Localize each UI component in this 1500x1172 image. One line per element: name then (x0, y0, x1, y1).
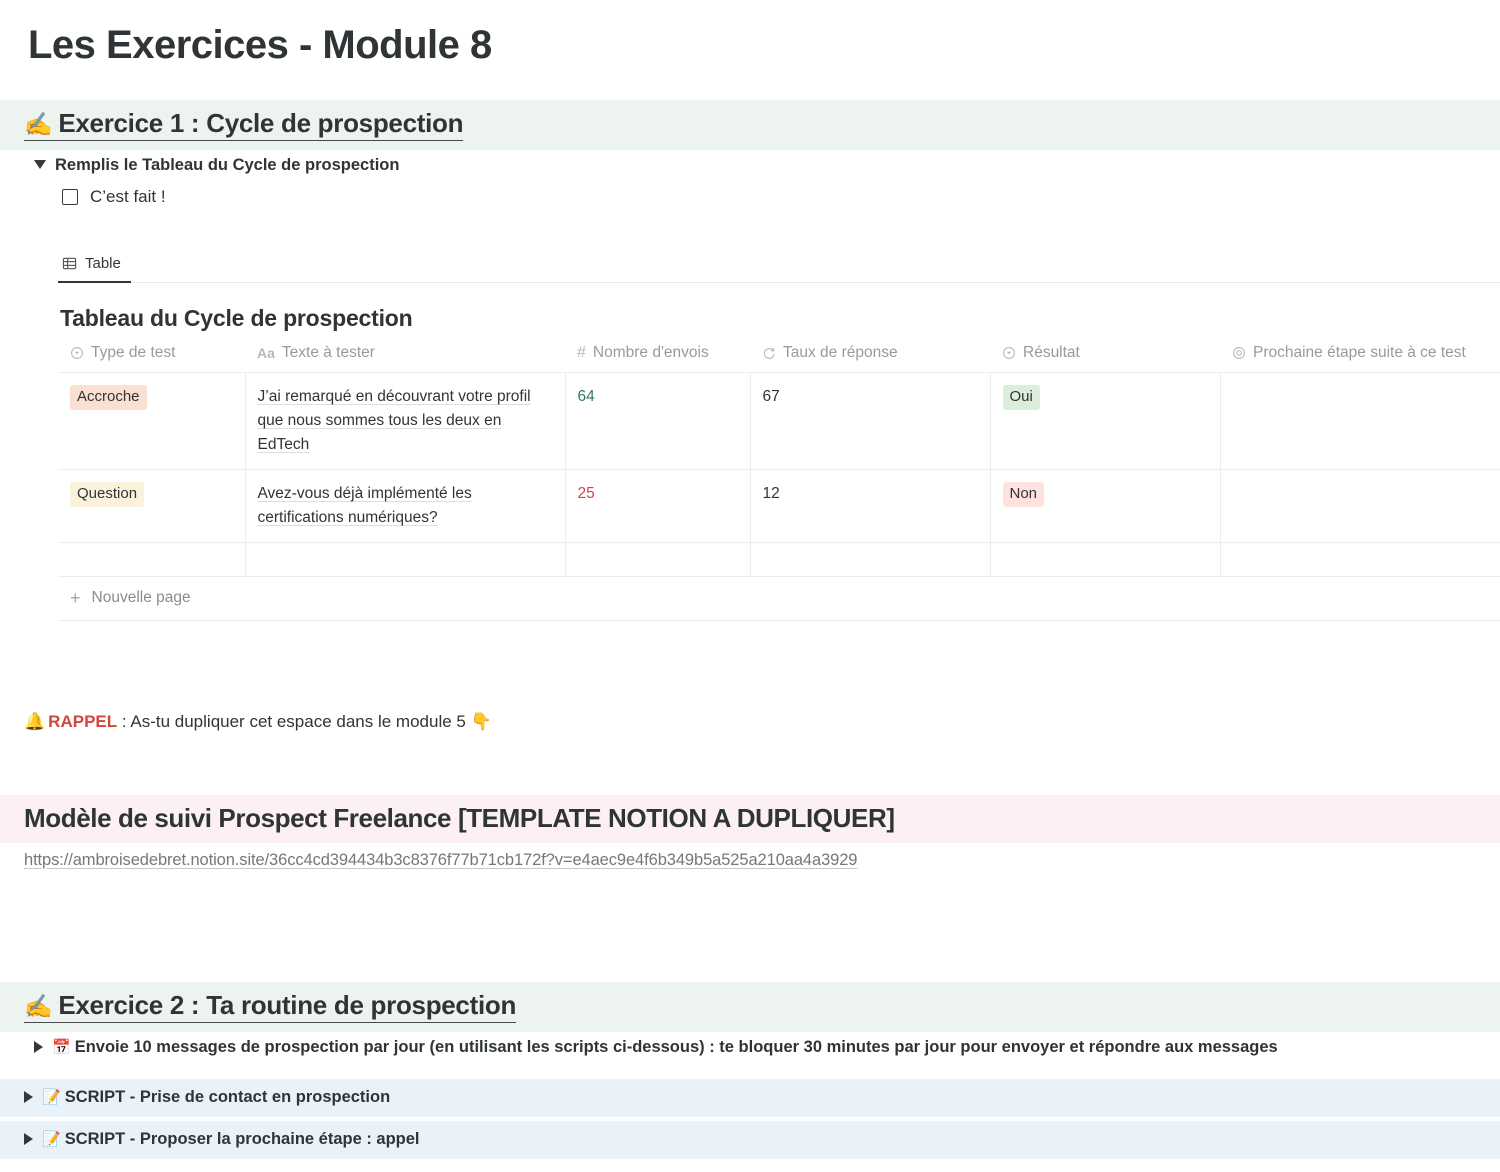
database-table: Type de test Aa Texte à tester # Nombre … (58, 338, 1500, 577)
column-resultat-label: Résultat (1023, 344, 1080, 362)
formula-icon (762, 346, 776, 360)
notion-page: Les Exercices - Module 8 ✍️Exercice 1 : … (0, 0, 1500, 1172)
tab-table-label: Table (85, 255, 121, 272)
column-taux-de-reponse[interactable]: Taux de réponse (750, 338, 990, 373)
cell-resultat[interactable]: Non (990, 470, 1220, 543)
script-1-label: SCRIPT - Prise de contact en prospection (65, 1088, 390, 1106)
column-type-de-test-label: Type de test (91, 344, 175, 362)
calendar-icon: 📅 (52, 1039, 71, 1056)
todo-cest-fait[interactable]: C’est fait ! (0, 181, 1500, 207)
column-nombre-envois-label: Nombre d'envois (593, 344, 709, 362)
script-block-2: 📝SCRIPT - Proposer la prochaine étape : … (0, 1121, 1500, 1159)
text-aa-icon: Aa (257, 345, 275, 361)
status-badge: Oui (1003, 385, 1040, 410)
database-view-tabs: Table (58, 251, 1500, 283)
rappel-text: 🔔RAPPEL : As-tu dupliquer cet espace dan… (0, 709, 1500, 735)
writing-hand-icon: ✍️ (24, 111, 52, 137)
table-row[interactable] (58, 543, 1500, 577)
new-page-label: Nouvelle page (92, 589, 191, 607)
chevron-down-icon[interactable] (34, 160, 46, 169)
plus-icon: + (70, 589, 81, 607)
cell-prochaine[interactable] (1220, 373, 1500, 470)
cell-type[interactable] (58, 543, 245, 577)
cell-envois[interactable]: 25 (565, 470, 750, 543)
cell-texte[interactable]: J’ai remarqué en découvrant votre profil… (245, 373, 565, 470)
page-title: Les Exercices - Module 8 (0, 0, 1500, 68)
cell-taux[interactable]: 12 (750, 470, 990, 543)
modele-link-row: https://ambroisedebret.notion.site/36cc4… (0, 843, 1500, 870)
toggle-script-prochaine-etape[interactable]: 📝SCRIPT - Proposer la prochaine étape : … (24, 1128, 1500, 1151)
status-badge: Accroche (70, 385, 147, 410)
column-prochaine-etape[interactable]: Prochaine étape suite à ce test (1220, 338, 1500, 373)
table-row[interactable]: Question Avez-vous déjà implémenté les c… (58, 470, 1500, 543)
column-taux-de-reponse-label: Taux de réponse (783, 344, 898, 362)
toggle-routine-label: Envoie 10 messages de prospection par jo… (75, 1038, 1278, 1056)
script-2-label: SCRIPT - Proposer la prochaine étape : a… (65, 1130, 420, 1148)
chevron-right-icon[interactable] (24, 1091, 33, 1103)
rappel-rest: : As-tu dupliquer cet espace dans le mod… (117, 712, 470, 731)
modele-heading: Modèle de suivi Prospect Freelance [TEMP… (24, 803, 895, 833)
exercice-1-heading[interactable]: ✍️Exercice 1 : Cycle de prospection (24, 108, 463, 141)
cell-envois[interactable]: 64 (565, 373, 750, 470)
column-resultat[interactable]: Résultat (990, 338, 1220, 373)
number-hash-icon: # (577, 344, 586, 362)
column-nombre-envois[interactable]: # Nombre d'envois (565, 338, 750, 373)
checkbox-cest-fait[interactable] (62, 189, 78, 205)
table-row[interactable]: Accroche J’ai remarqué en découvrant vot… (58, 373, 1500, 470)
select-icon (70, 346, 84, 360)
cell-envois[interactable] (565, 543, 750, 577)
cell-taux[interactable] (750, 543, 990, 577)
chevron-right-icon[interactable] (24, 1133, 33, 1145)
exercice-2-heading[interactable]: ✍️Exercice 2 : Ta routine de prospection (24, 990, 516, 1023)
cell-texte[interactable]: Avez-vous déjà implémenté les certificat… (245, 470, 565, 543)
column-texte-a-tester[interactable]: Aa Texte à tester (245, 338, 565, 373)
memo-icon: 📝 (42, 1131, 61, 1148)
column-texte-a-tester-label: Texte à tester (282, 344, 375, 362)
column-type-de-test[interactable]: Type de test (58, 338, 245, 373)
toggle-script-prise-de-contact[interactable]: 📝SCRIPT - Prise de contact en prospectio… (24, 1086, 1500, 1109)
tab-table[interactable]: Table (58, 251, 131, 283)
database-block: Table Tableau du Cycle de prospection (0, 251, 1500, 621)
exercice-1-heading-band: ✍️Exercice 1 : Cycle de prospection (0, 100, 1500, 150)
template-link[interactable]: https://ambroisedebret.notion.site/36cc4… (24, 851, 857, 869)
cell-resultat[interactable] (990, 543, 1220, 577)
exercice-2-heading-text: Exercice 2 : Ta routine de prospection (58, 990, 516, 1020)
script-block-1: 📝SCRIPT - Prise de contact en prospectio… (0, 1079, 1500, 1117)
writing-hand-icon: ✍️ (24, 993, 52, 1019)
cell-resultat[interactable]: Oui (990, 373, 1220, 470)
column-prochaine-etape-label: Prochaine étape suite à ce test (1253, 344, 1466, 362)
exercice-1-heading-text: Exercice 1 : Cycle de prospection (58, 108, 463, 138)
table-header-row: Type de test Aa Texte à tester # Nombre … (58, 338, 1500, 373)
modele-heading-band: Modèle de suivi Prospect Freelance [TEMP… (0, 795, 1500, 843)
cell-taux[interactable]: 67 (750, 373, 990, 470)
status-badge: Non (1003, 482, 1045, 507)
cell-prochaine[interactable] (1220, 543, 1500, 577)
cell-texte[interactable] (245, 543, 565, 577)
cell-prochaine[interactable] (1220, 470, 1500, 543)
memo-icon: 📝 (42, 1089, 61, 1106)
status-badge: Question (70, 482, 144, 507)
toggle-remplis-tableau-label: Remplis le Tableau du Cycle de prospecti… (55, 154, 399, 177)
bell-icon: 🔔 (24, 712, 45, 731)
pointing-down-icon: 👇 (471, 712, 492, 731)
toggle-routine-quotidienne[interactable]: 📅Envoie 10 messages de prospection par j… (0, 1032, 1500, 1063)
todo-cest-fait-label: C’est fait ! (90, 187, 166, 207)
exercice-2-heading-band: ✍️Exercice 2 : Ta routine de prospection (0, 982, 1500, 1032)
chevron-right-icon[interactable] (34, 1041, 43, 1053)
cell-type[interactable]: Accroche (58, 373, 245, 470)
toggle-remplis-tableau[interactable]: Remplis le Tableau du Cycle de prospecti… (0, 150, 1500, 181)
cell-type[interactable]: Question (58, 470, 245, 543)
database-title: Tableau du Cycle de prospection (58, 283, 1500, 338)
target-icon (1232, 346, 1246, 360)
table-icon (62, 256, 77, 271)
new-page-button[interactable]: + Nouvelle page (58, 577, 1500, 621)
rappel-keyword: RAPPEL (48, 712, 117, 731)
select-icon (1002, 346, 1016, 360)
